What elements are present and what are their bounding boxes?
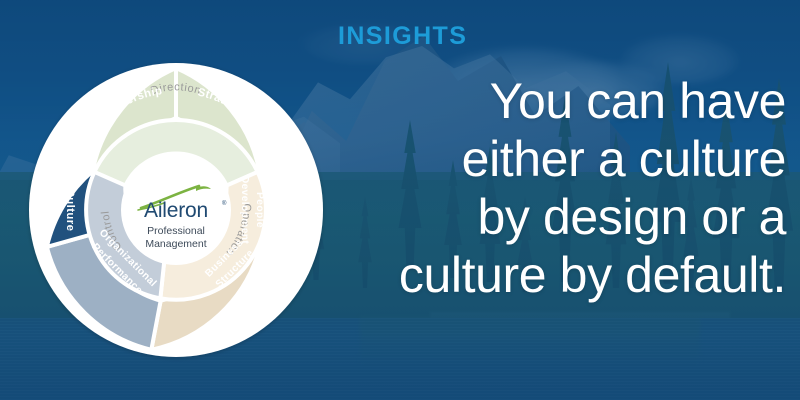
aileron-subtitle-line-2: Management [145, 238, 206, 250]
wheel-label-people-development-line-1: People [254, 192, 265, 228]
wheel-label-culture: Culture [64, 189, 76, 232]
insights-eyebrow: INSIGHTS [338, 24, 467, 49]
quote-line-2: either a culture [340, 130, 786, 188]
aileron-subtitle-line-1: Professional [147, 225, 205, 237]
quote-line-4: culture by default. [340, 246, 786, 304]
quote-text: You can have either a culture by design … [340, 72, 786, 304]
insight-card: INSIGHTS You can have either a culture b… [0, 0, 800, 400]
aileron-registered-mark: ® [222, 200, 227, 207]
quote-line-1: You can have [340, 72, 786, 130]
wheel-label-people-development-line-2: Development [239, 176, 250, 245]
wheel-label-culture-text: Culture [64, 189, 76, 232]
aileron-wordmark: Aileron [144, 199, 208, 222]
aileron-wheel-diagram: Aileron ® Professional Management Direct… [28, 62, 324, 358]
quote-line-3: by design or a [340, 188, 786, 246]
